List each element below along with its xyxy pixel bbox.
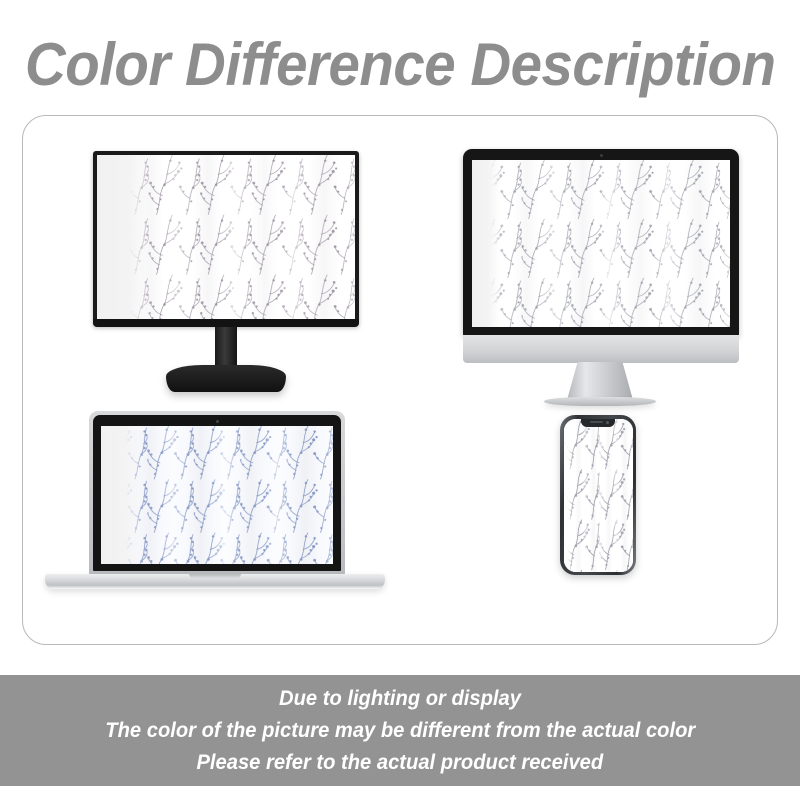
monitor-bezel xyxy=(93,151,359,326)
imac-stand xyxy=(567,362,633,400)
laptop-trackpad-notch xyxy=(189,574,241,578)
phone-screen xyxy=(564,419,633,572)
disclaimer-line-1: Due to lighting or display xyxy=(279,683,521,714)
device-smartphone xyxy=(538,411,658,626)
imac-chin xyxy=(463,335,739,363)
floral-branch-pattern-blue xyxy=(101,426,333,564)
device-desktop-monitor xyxy=(71,151,381,411)
imac-screen xyxy=(472,160,730,327)
front-camera-icon xyxy=(606,421,609,424)
pattern-svg xyxy=(97,155,355,319)
device-all-in-one-desktop xyxy=(441,149,759,414)
monitor-screen xyxy=(97,155,355,319)
title-bar: Color Difference Description xyxy=(0,28,800,100)
floral-branch-pattern-gray xyxy=(472,160,730,327)
pattern-svg xyxy=(101,426,333,564)
floral-branch-pattern-phone xyxy=(564,419,633,572)
device-showcase-card xyxy=(22,115,778,645)
disclaimer-banner: Due to lighting or display The color of … xyxy=(0,675,800,786)
floral-branch-pattern-mauve xyxy=(97,155,355,319)
monitor-chin xyxy=(93,319,359,327)
phone-body xyxy=(560,415,636,575)
disclaimer-line-2: The color of the picture may be differen… xyxy=(105,715,695,746)
speaker-icon xyxy=(590,421,603,423)
disclaimer-line-3: Please refer to the actual product recei… xyxy=(197,747,604,778)
page-title: Color Difference Description xyxy=(25,30,776,99)
camera-icon xyxy=(600,154,603,157)
camera-icon xyxy=(216,420,219,423)
laptop-bezel xyxy=(93,415,341,571)
pattern-svg xyxy=(564,419,633,572)
imac-stand-foot xyxy=(544,397,656,406)
pattern-svg xyxy=(472,160,730,327)
laptop-screen xyxy=(101,426,333,564)
imac-bezel xyxy=(463,149,739,336)
phone-notch xyxy=(581,419,615,427)
device-laptop xyxy=(45,411,385,626)
monitor-stand-base xyxy=(166,365,286,392)
